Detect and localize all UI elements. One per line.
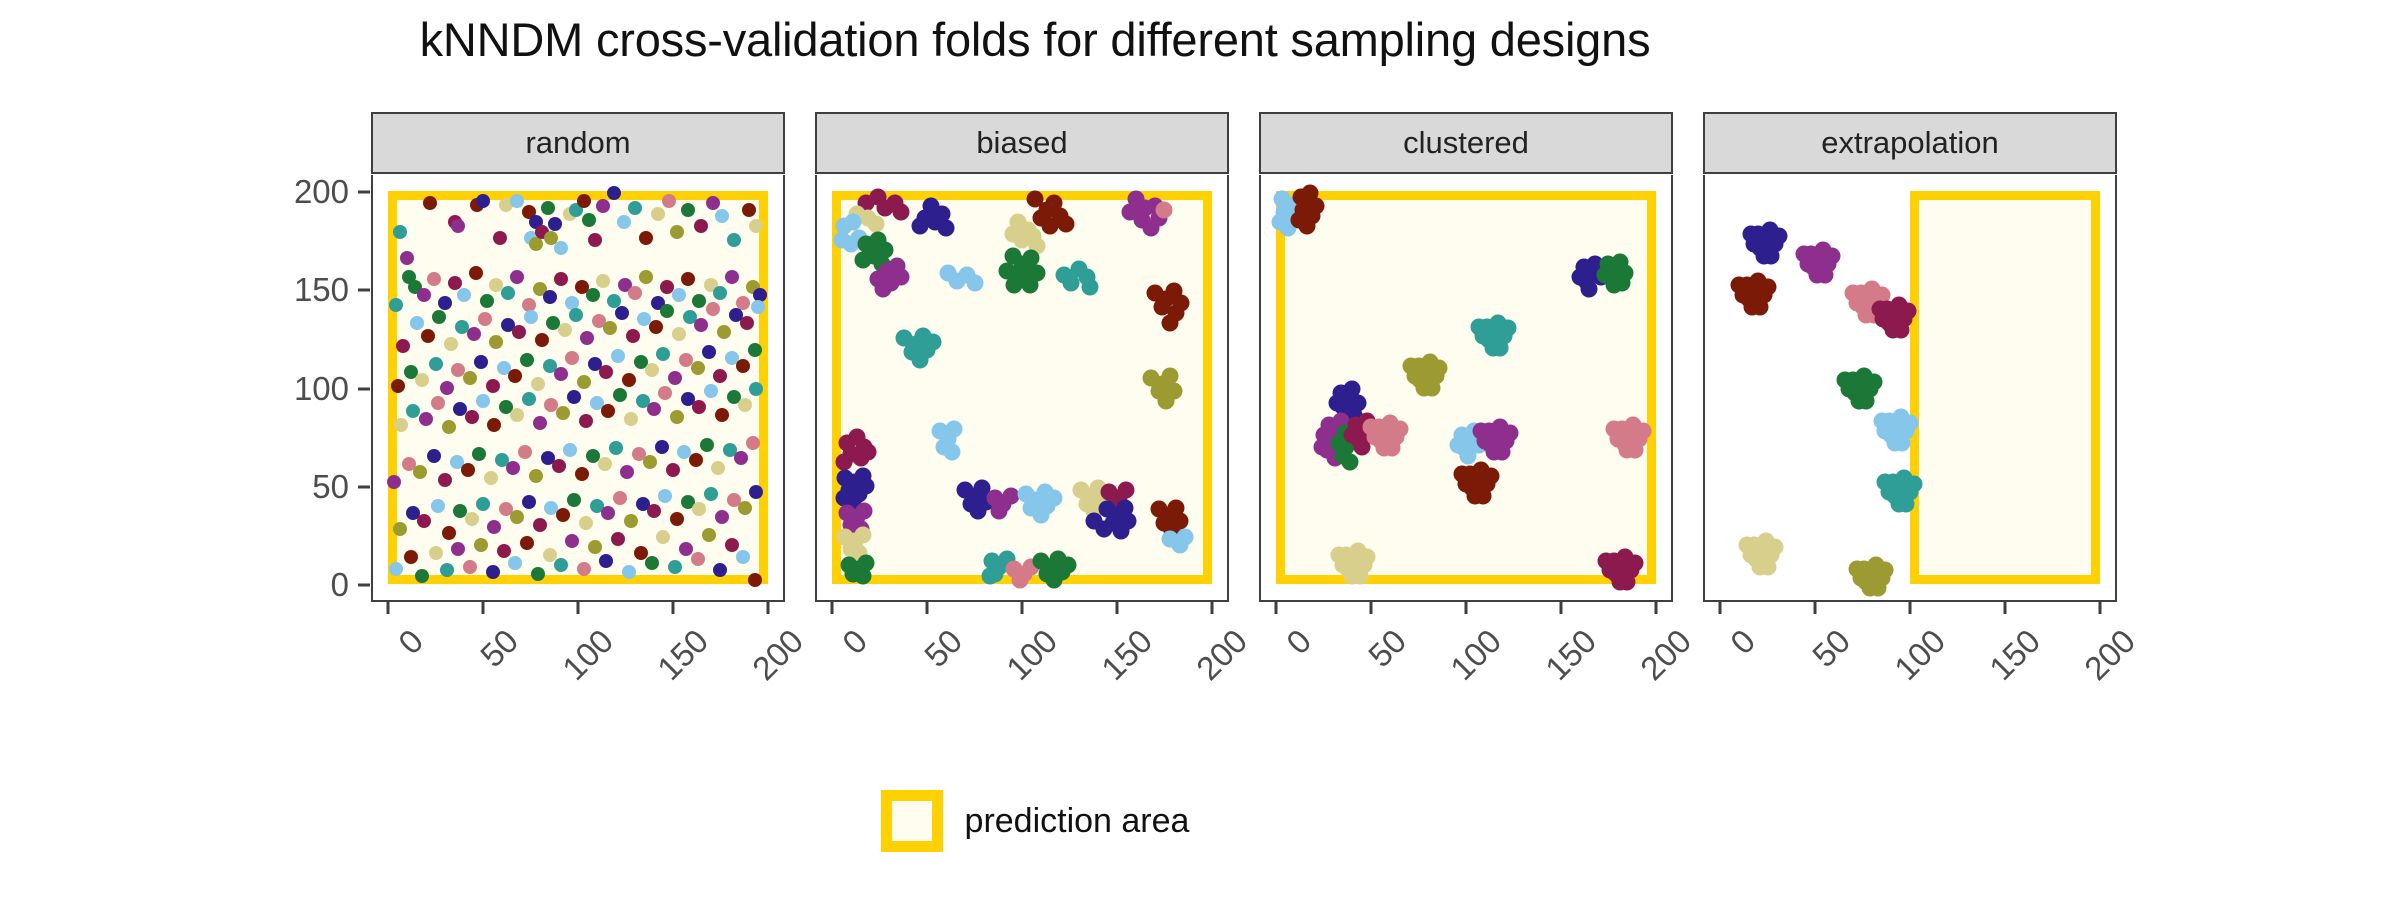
data-point-fold-4-darkred bbox=[1752, 298, 1769, 315]
data-point-fold-6-teal bbox=[554, 558, 568, 572]
data-point-fold-3-orchid bbox=[580, 331, 594, 345]
data-point-fold-9-wine bbox=[1118, 481, 1135, 498]
data-point-fold-3-orchid bbox=[596, 199, 610, 213]
data-point-fold-3-orchid bbox=[725, 270, 739, 284]
data-point-fold-9-wine bbox=[713, 369, 727, 383]
data-point-fold-6-teal bbox=[1499, 320, 1516, 337]
plot-area-biased bbox=[815, 175, 1229, 602]
data-point-fold-1-green bbox=[531, 567, 545, 581]
data-point-fold-4-darkred bbox=[689, 453, 703, 467]
data-point-fold-6-teal bbox=[1898, 495, 1915, 512]
data-point-fold-8-rose bbox=[518, 445, 532, 459]
data-point-fold-7-skyblue bbox=[943, 444, 960, 461]
chart-figure: kNNDM cross-validation folds for differe… bbox=[0, 0, 2400, 900]
panel-strip-label: clustered bbox=[1403, 125, 1529, 161]
data-point-fold-1-green bbox=[613, 388, 627, 402]
data-point-fold-4-darkred bbox=[748, 573, 762, 587]
data-point-fold-4-darkred bbox=[1057, 216, 1074, 233]
data-point-fold-4-darkred bbox=[601, 404, 615, 418]
data-point-fold-4-darkred bbox=[469, 266, 483, 280]
plot-area-random bbox=[371, 175, 785, 602]
data-point-fold-10-khaki bbox=[749, 219, 763, 233]
data-point-fold-10-khaki bbox=[1767, 538, 1784, 555]
data-point-fold-8-rose bbox=[1383, 440, 1400, 457]
x-tick-label: 200 bbox=[1633, 622, 1699, 688]
data-point-fold-6-teal bbox=[1905, 475, 1922, 492]
data-point-fold-3-orchid bbox=[1313, 438, 1330, 455]
data-point-fold-4-darkred bbox=[1454, 466, 1471, 483]
data-point-fold-2-navy bbox=[911, 218, 928, 235]
x-tick-label: 100 bbox=[999, 622, 1065, 688]
data-point-fold-9-wine bbox=[588, 233, 602, 247]
data-point-fold-1-green bbox=[700, 438, 714, 452]
data-point-fold-10-khaki bbox=[510, 408, 524, 422]
panel-clustered: clustered bbox=[1259, 112, 1673, 602]
data-point-fold-2-navy bbox=[702, 345, 716, 359]
data-point-fold-5-olive bbox=[463, 371, 477, 385]
data-point-fold-6-teal bbox=[522, 392, 536, 406]
data-point-fold-9-wine bbox=[1619, 574, 1636, 591]
data-point-fold-9-wine bbox=[1900, 302, 1917, 319]
data-point-fold-1-green bbox=[541, 201, 555, 215]
x-tick-mark bbox=[671, 602, 674, 614]
data-point-fold-7-skyblue bbox=[431, 499, 445, 513]
data-point-fold-3-orchid bbox=[668, 371, 682, 385]
data-point-fold-5-olive bbox=[639, 270, 653, 284]
data-point-fold-2-navy bbox=[607, 186, 621, 200]
x-tick-mark bbox=[1370, 602, 1373, 614]
data-point-fold-2-navy bbox=[655, 440, 669, 454]
data-point-fold-1-green bbox=[1059, 556, 1076, 573]
data-point-fold-4-darkred bbox=[535, 333, 549, 347]
data-point-fold-8-rose bbox=[431, 396, 445, 410]
data-point-fold-8-rose bbox=[1363, 418, 1380, 435]
data-point-fold-10-khaki bbox=[1359, 548, 1376, 565]
data-point-fold-9-wine bbox=[512, 325, 526, 339]
data-point-fold-1-green bbox=[480, 294, 494, 308]
data-point-fold-6-teal bbox=[1471, 318, 1488, 335]
panel-strip-clustered: clustered bbox=[1259, 112, 1673, 174]
x-tick-mark bbox=[387, 602, 390, 614]
data-point-fold-7-skyblue bbox=[1046, 489, 1063, 506]
data-point-fold-4-darkred bbox=[556, 508, 570, 522]
data-point-fold-10-khaki bbox=[1330, 546, 1347, 563]
x-tick-mark bbox=[1814, 602, 1817, 614]
data-point-fold-9-wine bbox=[579, 414, 593, 428]
data-point-fold-10-khaki bbox=[598, 457, 612, 471]
data-point-fold-3-orchid bbox=[1143, 220, 1160, 237]
data-point-fold-5-olive bbox=[624, 514, 638, 528]
data-point-fold-4-darkred bbox=[1475, 487, 1492, 504]
data-point-fold-7-skyblue bbox=[508, 556, 522, 570]
data-point-fold-7-skyblue bbox=[457, 288, 471, 302]
data-point-fold-2-navy bbox=[615, 306, 629, 320]
data-point-fold-7-skyblue bbox=[1450, 436, 1467, 453]
x-tick-label: 0 bbox=[1279, 622, 1319, 662]
data-point-fold-8-rose bbox=[658, 386, 672, 400]
data-point-fold-5-olive bbox=[510, 510, 524, 524]
data-point-fold-3-orchid bbox=[440, 381, 454, 395]
data-point-fold-10-khaki bbox=[394, 418, 408, 432]
data-point-fold-10-khaki bbox=[854, 527, 871, 544]
prediction-area-extrapolation bbox=[1910, 191, 2100, 585]
x-tick-mark bbox=[831, 602, 834, 614]
data-point-fold-8-rose bbox=[577, 562, 591, 576]
data-point-fold-1-green bbox=[432, 310, 446, 324]
data-point-fold-9-wine bbox=[438, 473, 452, 487]
data-point-fold-10-khaki bbox=[531, 377, 545, 391]
data-point-fold-6-teal bbox=[924, 334, 941, 351]
x-tick-mark bbox=[1115, 602, 1118, 614]
data-point-fold-7-skyblue bbox=[611, 349, 625, 363]
data-point-fold-2-navy bbox=[522, 495, 536, 509]
panel-strip-label: random bbox=[525, 125, 630, 161]
data-point-fold-4-darkred bbox=[421, 329, 435, 343]
data-point-fold-4-darkred bbox=[715, 408, 729, 422]
data-point-fold-7-skyblue bbox=[524, 310, 538, 324]
y-tick-mark bbox=[358, 190, 370, 193]
data-point-fold-1-green bbox=[748, 343, 762, 357]
data-point-fold-3-orchid bbox=[533, 416, 547, 430]
legend-label: prediction area bbox=[965, 802, 1190, 841]
data-point-fold-9-wine bbox=[599, 365, 613, 379]
data-point-fold-4-darkred bbox=[577, 194, 591, 208]
data-point-fold-6-teal bbox=[476, 497, 490, 511]
data-point-fold-4-darkred bbox=[649, 320, 663, 334]
data-point-fold-7-skyblue bbox=[1032, 507, 1049, 524]
plot-area-extrapolation bbox=[1703, 175, 2117, 602]
data-point-fold-1-green bbox=[415, 569, 429, 583]
data-point-fold-9-wine bbox=[740, 316, 754, 330]
data-point-fold-10-khaki bbox=[444, 337, 458, 351]
data-point-fold-6-teal bbox=[501, 286, 515, 300]
data-point-fold-7-skyblue bbox=[966, 275, 983, 292]
data-point-fold-8-rose bbox=[1156, 202, 1173, 219]
data-point-fold-10-khaki bbox=[1351, 568, 1368, 585]
data-point-fold-3-orchid bbox=[451, 542, 465, 556]
data-point-fold-7-skyblue bbox=[1873, 412, 1890, 429]
data-point-fold-7-skyblue bbox=[476, 394, 490, 408]
data-point-fold-9-wine bbox=[666, 463, 680, 477]
data-point-fold-7-skyblue bbox=[554, 241, 568, 255]
chart-legend: prediction area bbox=[0, 790, 2070, 852]
data-point-fold-9-wine bbox=[626, 329, 640, 343]
data-point-fold-2-navy bbox=[970, 503, 987, 520]
data-point-fold-4-darkred bbox=[575, 467, 589, 481]
data-point-fold-9-wine bbox=[417, 514, 431, 528]
x-tick-label: 150 bbox=[650, 622, 716, 688]
data-point-fold-3-orchid bbox=[601, 506, 615, 520]
data-point-fold-3-orchid bbox=[467, 327, 481, 341]
data-point-fold-6-teal bbox=[429, 357, 443, 371]
data-point-fold-8-rose bbox=[691, 552, 705, 566]
data-point-fold-10-khaki bbox=[596, 274, 610, 288]
data-point-fold-2-navy bbox=[858, 477, 875, 494]
data-point-fold-8-rose bbox=[1391, 420, 1408, 437]
data-point-fold-4-darkred bbox=[670, 512, 684, 526]
data-point-fold-5-olive bbox=[529, 469, 543, 483]
data-point-fold-3-orchid bbox=[554, 367, 568, 381]
data-point-fold-5-olive bbox=[413, 465, 427, 479]
panel-strip-extrapolation: extrapolation bbox=[1703, 112, 2117, 174]
data-point-fold-2-navy bbox=[749, 485, 763, 499]
x-tick-label: 50 bbox=[1361, 622, 1414, 675]
panel-strip-label: extrapolation bbox=[1821, 125, 1999, 161]
data-point-fold-8-rose bbox=[706, 302, 720, 316]
data-point-fold-9-wine bbox=[1892, 322, 1909, 339]
data-point-fold-9-wine bbox=[1344, 426, 1361, 443]
data-point-fold-2-navy bbox=[1771, 227, 1788, 244]
data-point-fold-6-teal bbox=[656, 347, 670, 361]
data-point-fold-6-teal bbox=[393, 225, 407, 239]
x-tick-mark bbox=[482, 602, 485, 614]
data-point-fold-7-skyblue bbox=[617, 215, 631, 229]
data-point-fold-6-teal bbox=[1877, 473, 1894, 490]
data-point-fold-2-navy bbox=[1328, 395, 1345, 412]
data-point-fold-2-navy bbox=[1742, 226, 1759, 243]
data-point-fold-10-khaki bbox=[558, 323, 572, 337]
data-point-fold-7-skyblue bbox=[563, 443, 577, 457]
data-point-fold-9-wine bbox=[486, 379, 500, 393]
plot-area-clustered bbox=[1259, 175, 1673, 602]
data-point-fold-2-navy bbox=[476, 194, 490, 208]
data-point-fold-4-darkred bbox=[423, 196, 437, 210]
data-point-fold-2-navy bbox=[599, 554, 613, 568]
x-tick-mark bbox=[1909, 602, 1912, 614]
data-point-fold-3-orchid bbox=[991, 503, 1008, 520]
data-point-fold-7-skyblue bbox=[1902, 414, 1919, 431]
data-point-fold-10-khaki bbox=[656, 530, 670, 544]
data-point-fold-8-rose bbox=[1845, 285, 1862, 302]
data-point-fold-8-rose bbox=[628, 286, 642, 300]
x-tick-label: 0 bbox=[1723, 622, 1763, 662]
y-tick-label: 50 bbox=[312, 468, 349, 506]
data-point-fold-5-olive bbox=[393, 522, 407, 536]
data-point-fold-3-orchid bbox=[506, 461, 520, 475]
data-point-fold-3-orchid bbox=[1795, 245, 1812, 262]
x-tick-label: 50 bbox=[473, 622, 526, 675]
data-point-fold-7-skyblue bbox=[845, 214, 862, 231]
data-point-fold-4-darkred bbox=[1759, 279, 1776, 296]
data-point-fold-5-olive bbox=[1877, 562, 1894, 579]
data-point-fold-3-orchid bbox=[565, 534, 579, 548]
data-point-fold-3-orchid bbox=[510, 270, 524, 284]
data-point-fold-7-skyblue bbox=[622, 565, 636, 579]
data-point-fold-2-navy bbox=[1095, 521, 1112, 538]
data-point-fold-6-teal bbox=[713, 286, 727, 300]
data-point-fold-9-wine bbox=[533, 518, 547, 532]
panel-biased: biased bbox=[815, 112, 1229, 602]
data-point-fold-3-orchid bbox=[734, 451, 748, 465]
data-point-fold-4-darkred bbox=[1298, 218, 1315, 235]
data-point-fold-1-green bbox=[1865, 373, 1882, 390]
data-point-fold-7-skyblue bbox=[658, 489, 672, 503]
x-tick-mark bbox=[2003, 602, 2006, 614]
prediction-area-swatch bbox=[881, 790, 943, 852]
data-point-fold-7-skyblue bbox=[1177, 529, 1194, 546]
data-point-fold-9-wine bbox=[1598, 552, 1615, 569]
panel-extrapolation: extrapolation bbox=[1703, 112, 2117, 602]
data-point-fold-4-darkred bbox=[487, 418, 501, 432]
data-point-fold-2-navy bbox=[543, 290, 557, 304]
x-tick-mark bbox=[2098, 602, 2101, 614]
x-tick-mark bbox=[1719, 602, 1722, 614]
data-point-fold-8-rose bbox=[746, 436, 760, 450]
data-point-fold-6-teal bbox=[609, 441, 623, 455]
data-point-fold-5-olive bbox=[1162, 367, 1179, 384]
data-point-fold-5-olive bbox=[643, 455, 657, 469]
x-tick-mark bbox=[577, 602, 580, 614]
data-point-fold-3-orchid bbox=[1501, 424, 1518, 441]
data-point-fold-2-navy bbox=[1763, 247, 1780, 264]
data-point-fold-7-skyblue bbox=[1894, 434, 1911, 451]
data-point-fold-10-khaki bbox=[429, 546, 443, 560]
data-point-fold-1-green bbox=[1021, 277, 1038, 294]
data-point-fold-6-teal bbox=[911, 351, 928, 368]
data-point-fold-3-orchid bbox=[387, 475, 401, 489]
data-point-fold-9-wine bbox=[725, 538, 739, 552]
data-point-fold-10-khaki bbox=[711, 461, 725, 475]
data-point-fold-8-rose bbox=[463, 560, 477, 574]
data-point-fold-7-skyblue bbox=[672, 288, 686, 302]
data-point-fold-6-teal bbox=[1492, 340, 1509, 357]
data-point-fold-2-navy bbox=[486, 565, 500, 579]
data-point-fold-2-navy bbox=[474, 355, 488, 369]
data-point-fold-5-olive bbox=[670, 410, 684, 424]
data-point-fold-5-olive bbox=[1423, 379, 1440, 396]
data-point-fold-7-skyblue bbox=[945, 420, 962, 437]
data-point-fold-1-green bbox=[1046, 572, 1063, 589]
data-point-fold-1-green bbox=[567, 493, 581, 507]
data-point-fold-9-wine bbox=[1626, 554, 1643, 571]
data-point-fold-10-khaki bbox=[415, 373, 429, 387]
data-point-fold-3-orchid bbox=[1494, 444, 1511, 461]
data-point-fold-9-wine bbox=[694, 219, 708, 233]
data-point-fold-4-darkred bbox=[681, 272, 695, 286]
data-point-fold-8-rose bbox=[565, 351, 579, 365]
data-point-fold-4-darkred bbox=[391, 379, 405, 393]
data-point-fold-3-orchid bbox=[451, 219, 465, 233]
data-point-fold-1-green bbox=[660, 304, 674, 318]
data-point-fold-3-orchid bbox=[715, 510, 729, 524]
data-point-fold-3-orchid bbox=[400, 251, 414, 265]
panel-random: random bbox=[371, 112, 785, 602]
data-point-fold-6-teal bbox=[440, 563, 454, 577]
data-point-fold-4-darkred bbox=[508, 369, 522, 383]
data-point-fold-4-darkred bbox=[1302, 184, 1319, 201]
data-point-fold-5-olive bbox=[442, 420, 456, 434]
data-point-fold-10-khaki bbox=[645, 363, 659, 377]
data-point-fold-1-green bbox=[1613, 275, 1630, 292]
data-point-fold-9-wine bbox=[554, 272, 568, 286]
x-tick-label: 50 bbox=[1805, 622, 1858, 675]
x-tick-mark bbox=[1465, 602, 1468, 614]
data-point-fold-7-skyblue bbox=[389, 562, 403, 576]
chart-title: kNNDM cross-validation folds for differe… bbox=[0, 12, 2070, 67]
x-tick-label: 100 bbox=[555, 622, 621, 688]
data-point-fold-9-wine bbox=[835, 454, 852, 471]
data-point-fold-3-orchid bbox=[892, 269, 909, 286]
data-point-fold-1-green bbox=[692, 294, 706, 308]
data-point-fold-6-teal bbox=[668, 560, 682, 574]
data-point-fold-8-rose bbox=[613, 491, 627, 505]
data-point-fold-5-olive bbox=[588, 540, 602, 554]
data-point-fold-2-navy bbox=[713, 563, 727, 577]
data-point-fold-6-teal bbox=[749, 382, 763, 396]
data-point-fold-6-teal bbox=[628, 201, 642, 215]
data-point-fold-5-olive bbox=[556, 406, 570, 420]
data-point-fold-4-darkred bbox=[622, 373, 636, 387]
data-point-fold-2-navy bbox=[938, 220, 955, 237]
data-point-fold-4-darkred bbox=[442, 526, 456, 540]
x-tick-label: 150 bbox=[1094, 622, 1160, 688]
data-point-fold-3-orchid bbox=[417, 288, 431, 302]
data-point-fold-5-olive bbox=[1158, 393, 1175, 410]
data-point-fold-6-teal bbox=[1082, 279, 1099, 296]
data-point-fold-5-olive bbox=[474, 538, 488, 552]
data-point-fold-5-olive bbox=[489, 335, 503, 349]
data-point-fold-3-orchid bbox=[647, 402, 661, 416]
data-point-fold-7-skyblue bbox=[510, 194, 524, 208]
x-tick-label: 100 bbox=[1887, 622, 1953, 688]
data-point-fold-8-rose bbox=[1626, 442, 1643, 459]
data-point-fold-1-green bbox=[854, 568, 871, 585]
x-tick-label: 200 bbox=[745, 622, 811, 688]
data-point-fold-2-navy bbox=[427, 449, 441, 463]
data-point-fold-6-teal bbox=[569, 308, 583, 322]
data-point-fold-9-wine bbox=[692, 400, 706, 414]
data-point-fold-8-rose bbox=[662, 194, 676, 208]
data-point-fold-6-teal bbox=[704, 487, 718, 501]
data-point-fold-4-darkred bbox=[639, 231, 653, 245]
data-point-fold-9-wine bbox=[396, 339, 410, 353]
data-point-fold-7-skyblue bbox=[704, 384, 718, 398]
data-point-fold-5-olive bbox=[1402, 357, 1419, 374]
data-point-fold-10-khaki bbox=[738, 398, 752, 412]
data-point-fold-10-khaki bbox=[1738, 536, 1755, 553]
data-point-fold-6-teal bbox=[406, 404, 420, 418]
data-point-fold-9-wine bbox=[611, 532, 625, 546]
data-point-fold-8-rose bbox=[427, 272, 441, 286]
data-point-fold-3-orchid bbox=[694, 318, 708, 332]
data-point-fold-5-olive bbox=[717, 325, 731, 339]
x-tick-mark bbox=[926, 602, 929, 614]
x-tick-mark bbox=[1654, 602, 1657, 614]
panel-strip-random: random bbox=[371, 112, 785, 174]
y-tick-label: 150 bbox=[294, 271, 349, 309]
y-tick-mark bbox=[358, 485, 370, 488]
data-point-fold-4-darkred bbox=[1731, 277, 1748, 294]
y-tick-mark bbox=[358, 387, 370, 390]
data-point-fold-5-olive bbox=[702, 528, 716, 542]
data-point-fold-6-teal bbox=[389, 298, 403, 312]
y-tick-mark bbox=[358, 289, 370, 292]
x-tick-mark bbox=[766, 602, 769, 614]
data-point-fold-4-darkred bbox=[404, 550, 418, 564]
x-tick-mark bbox=[1559, 602, 1562, 614]
data-point-fold-2-navy bbox=[548, 217, 562, 231]
panel-strip-label: biased bbox=[976, 125, 1067, 161]
y-tick-mark bbox=[358, 584, 370, 587]
data-point-fold-1-green bbox=[1837, 371, 1854, 388]
data-point-fold-2-navy bbox=[1571, 269, 1588, 286]
data-point-fold-8-rose bbox=[478, 312, 492, 326]
data-point-fold-4-darkred bbox=[461, 463, 475, 477]
panel-strip-biased: biased bbox=[815, 112, 1229, 174]
data-point-fold-5-olive bbox=[577, 375, 591, 389]
data-point-fold-2-navy bbox=[567, 390, 581, 404]
data-point-fold-4-darkred bbox=[742, 203, 756, 217]
